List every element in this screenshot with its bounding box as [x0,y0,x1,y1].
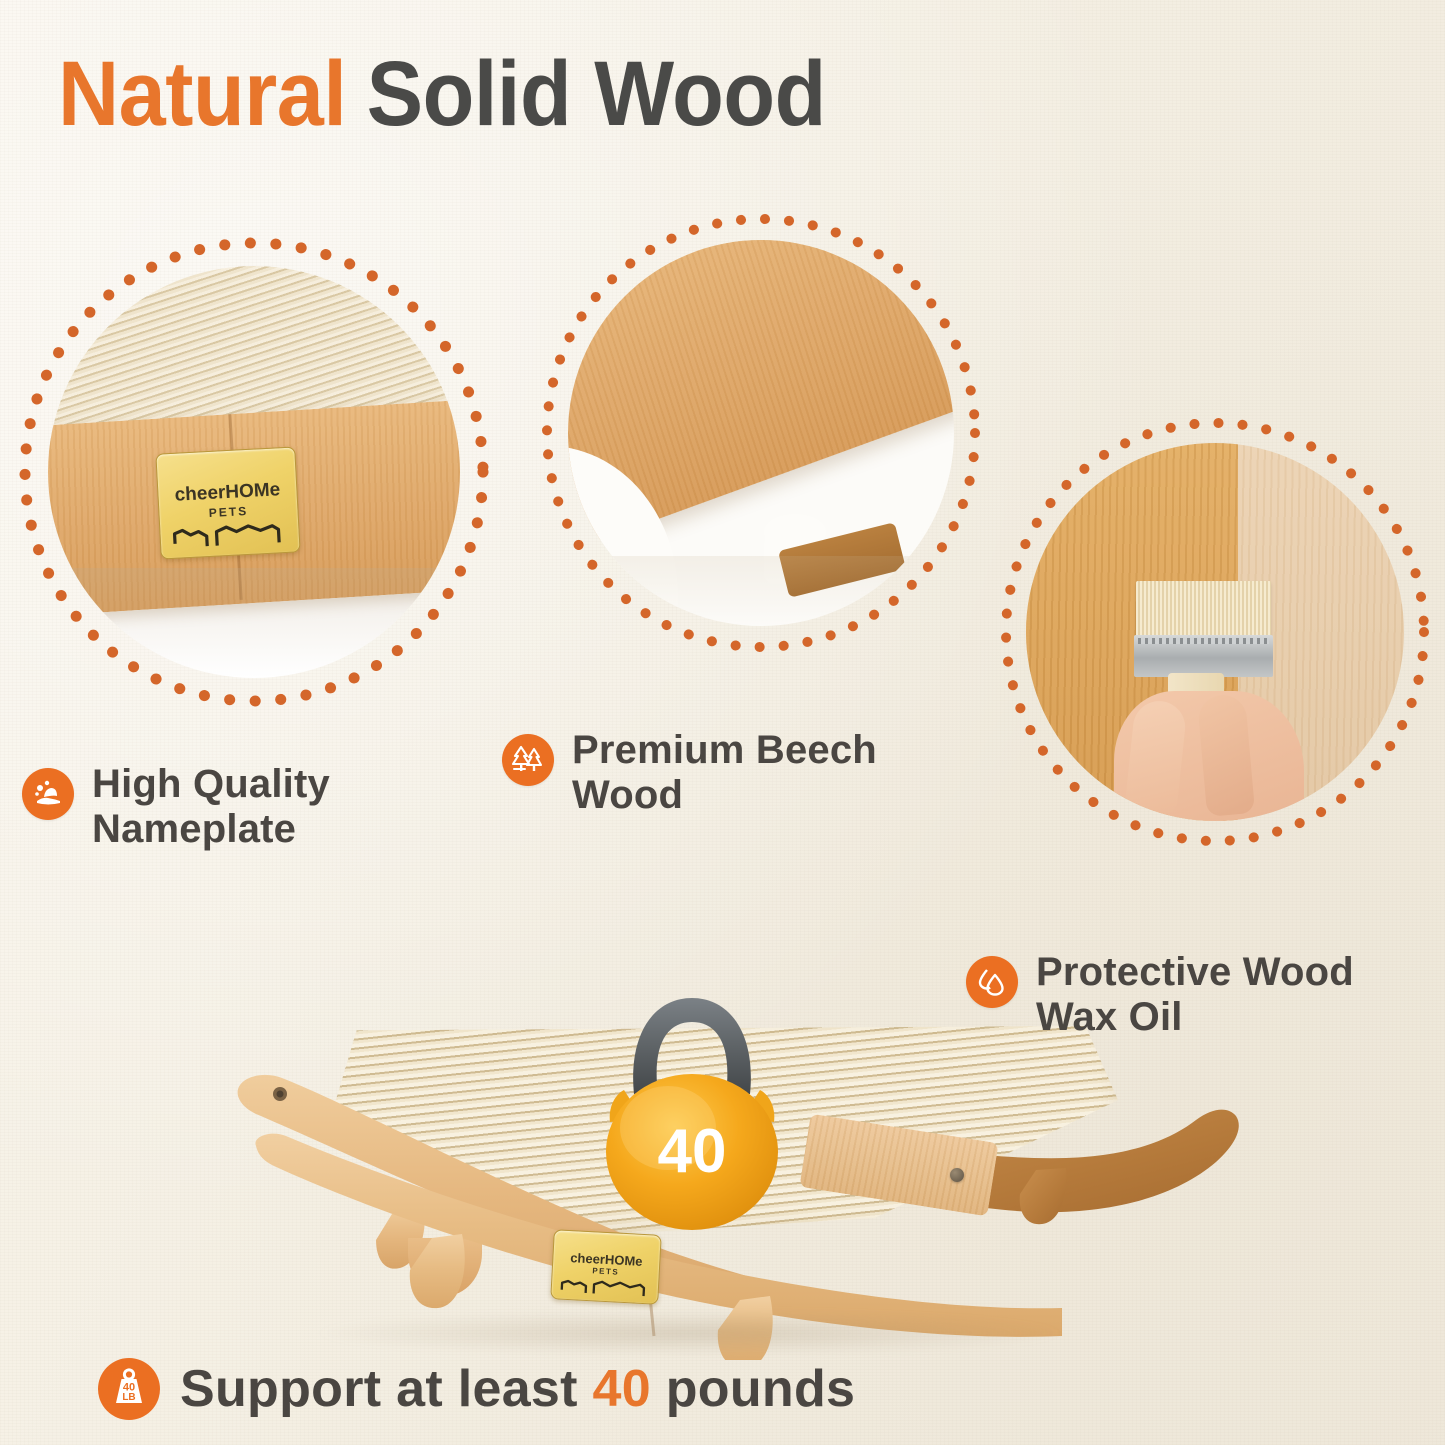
product-feature-graphic: NaturalSolid Wood cheerHOMe PETS [0,0,1445,1445]
page-title-dark: Solid Wood [367,43,826,145]
page-title-accent: Natural [58,43,346,145]
brand-nameplate: cheerHOMe PETS [550,1229,662,1305]
support-weight-highlight: 40 [593,1360,651,1418]
support-capacity-row: 40 LB Support at least 40 pounds [98,1358,855,1420]
photo-nameplate-closeup: cheerHOMe PETS [48,266,460,678]
weight-40lb-icon: 40 LB [98,1358,160,1420]
brush-bristles [1136,581,1271,637]
kettlebell-weight-label: 40 [658,1117,727,1186]
weight-unit-text: LB [122,1392,135,1403]
photo-beech-wood-closeup [568,240,954,626]
brush-ferrule-studs [1138,638,1269,644]
water-droplets-icon [966,956,1018,1008]
floor-shadow [568,556,954,626]
feature-label-text: Premium BeechWood [572,728,877,818]
kettlebell: 40 [572,982,812,1232]
photo-wax-oil-application [1026,443,1404,821]
feature-label-wax-oil: Protective WoodWax Oil [966,950,1436,1040]
feature-label-beech-wood: Premium BeechWood [502,728,972,818]
feature-label-text: Protective WoodWax Oil [1036,950,1354,1040]
pine-trees-icon [502,734,554,786]
product-shadow [310,1310,1070,1356]
nameplate-brand-text: cheerHOMe [158,479,297,505]
page-title: NaturalSolid Wood [58,46,826,143]
brand-nameplate: cheerHOMe PETS [155,446,300,559]
support-capacity-text: Support at least 40 pounds [180,1359,855,1419]
product-photo-main: cheerHOMe PETS [190,980,1250,1380]
floor-shadow [48,568,460,678]
feature-label-text: High QualityNameplate [92,762,330,852]
feature-label-nameplate: High QualityNameplate [22,762,452,852]
sparkle-plate-icon [22,768,74,820]
